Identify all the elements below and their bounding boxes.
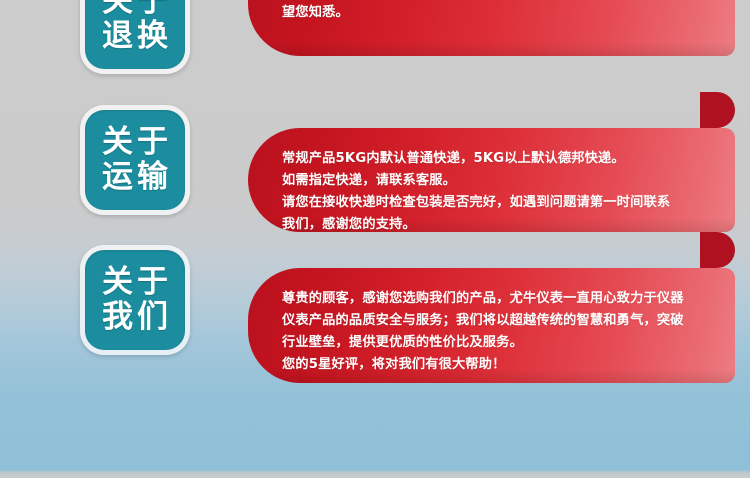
panel-about-us-line-2: 仪表产品的品质安全与服务；我们将以超越传统的智慧和勇气，突破 [282, 310, 711, 332]
panel-returns: 常规产品在收到货30日内如有出现质量问题，无条件退换货并承担来 回运费;对于非标… [248, 0, 735, 56]
badge-about-us-line-1: 关于 [98, 265, 172, 300]
panel-shipping-line-4: 我们，感谢您的支持。 [282, 214, 711, 232]
panel-shipping-text: 常规产品5KG内默认普通快递，5KG以上默认德邦快递。 如需指定快递，请联系客服… [282, 148, 711, 232]
panel-shipping-line-3: 请您在接收快递时检查包装是否完好，如遇到问题请第一时间联系 [282, 192, 711, 214]
badge-returns-line-2: 退换 [98, 19, 172, 54]
badge-about-us: 关于 我们 [80, 245, 190, 355]
panel-about-us-line-4: 您的5星好评，将对我们有很大帮助！ [282, 354, 711, 376]
badge-about-us-inner: 关于 我们 [85, 250, 185, 350]
badge-about-us-line-2: 我们 [98, 300, 172, 335]
section-returns: 关于 退换 常规产品在收到货30日内如有出现质量问题，无条件退换货并承担来 回运… [0, 0, 750, 96]
section-about-us: 关于 我们 尊贵的顾客，感谢您选购我们的产品，尤牛仪表一直用心致力于仪器 仪表产… [0, 245, 750, 385]
panel-about-us-line-1: 尊贵的顾客，感谢您选购我们的产品，尤牛仪表一直用心致力于仪器 [282, 288, 711, 310]
badge-returns-line-1: 关于 [98, 0, 172, 19]
panel-shipping: 常规产品5KG内默认普通快递，5KG以上默认德邦快递。 如需指定快递，请联系客服… [248, 128, 735, 232]
badge-shipping: 关于 运输 [80, 105, 190, 215]
panel-shipping-line-1: 常规产品5KG内默认普通快递，5KG以上默认德邦快递。 [282, 148, 711, 170]
panel-shipping-tab-icon [700, 92, 735, 128]
badge-shipping-inner: 关于 运输 [85, 110, 185, 210]
after-sales-info-page: 关于 退换 常规产品在收到货30日内如有出现质量问题，无条件退换货并承担来 回运… [0, 0, 750, 478]
section-shipping: 关于 运输 常规产品5KG内默认普通快递，5KG以上默认德邦快递。 如需指定快递… [0, 105, 750, 245]
panel-about-us-text: 尊贵的顾客，感谢您选购我们的产品，尤牛仪表一直用心致力于仪器 仪表产品的品质安全… [282, 288, 711, 376]
badge-shipping-line-1: 关于 [98, 125, 172, 160]
badge-returns-inner: 关于 退换 [85, 0, 185, 69]
panel-about-us-line-3: 行业壁垒，提供更优质的性价比及服务。 [282, 332, 711, 354]
badge-shipping-line-2: 运输 [98, 160, 172, 195]
panel-about-us: 尊贵的顾客，感谢您选购我们的产品，尤牛仪表一直用心致力于仪器 仪表产品的品质安全… [248, 268, 735, 383]
badge-returns: 关于 退换 [80, 0, 190, 74]
panel-returns-text: 常规产品在收到货30日内如有出现质量问题，无条件退换货并承担来 回运费;对于非标… [282, 0, 711, 24]
panel-shipping-line-2: 如需指定快递，请联系客服。 [282, 170, 711, 192]
panel-returns-line-3: 望您知悉。 [282, 2, 711, 24]
panel-about-us-tab-icon [700, 232, 735, 268]
